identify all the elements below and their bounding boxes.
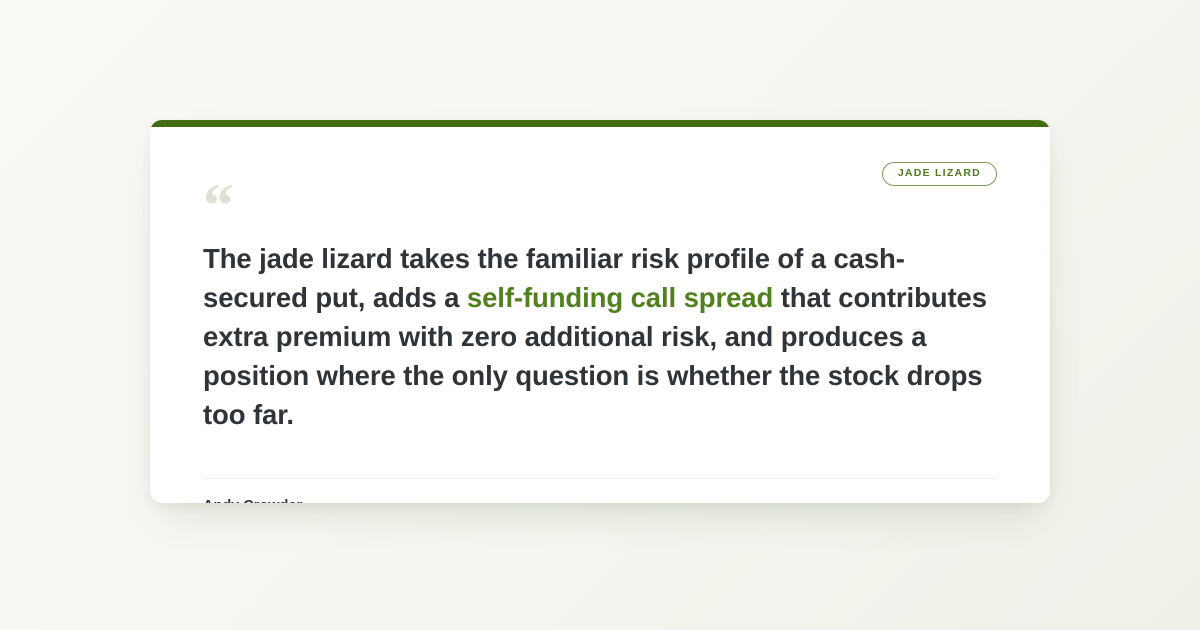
quote-card: JADE LIZARD “ The jade lizard takes the … [150, 120, 1050, 503]
strategy-badge[interactable]: JADE LIZARD [882, 162, 997, 186]
quote-segment-highlight: self-funding call spread [467, 282, 773, 313]
footer-divider [203, 478, 997, 479]
quote-text: The jade lizard takes the familiar risk … [203, 239, 993, 434]
quote-card-canvas: JADE LIZARD “ The jade lizard takes the … [0, 0, 1200, 630]
card-footer: Andy Crowder Founder and Chief Options S… [203, 497, 997, 503]
author-name: Andy Crowder [203, 497, 451, 503]
card-accent-bar [150, 120, 1050, 127]
card-content: JADE LIZARD “ The jade lizard takes the … [150, 127, 1050, 503]
badge-row: JADE LIZARD [203, 155, 997, 181]
attribution: Andy Crowder Founder and Chief Options S… [203, 497, 451, 503]
quote-mark-icon: “ [203, 175, 997, 217]
